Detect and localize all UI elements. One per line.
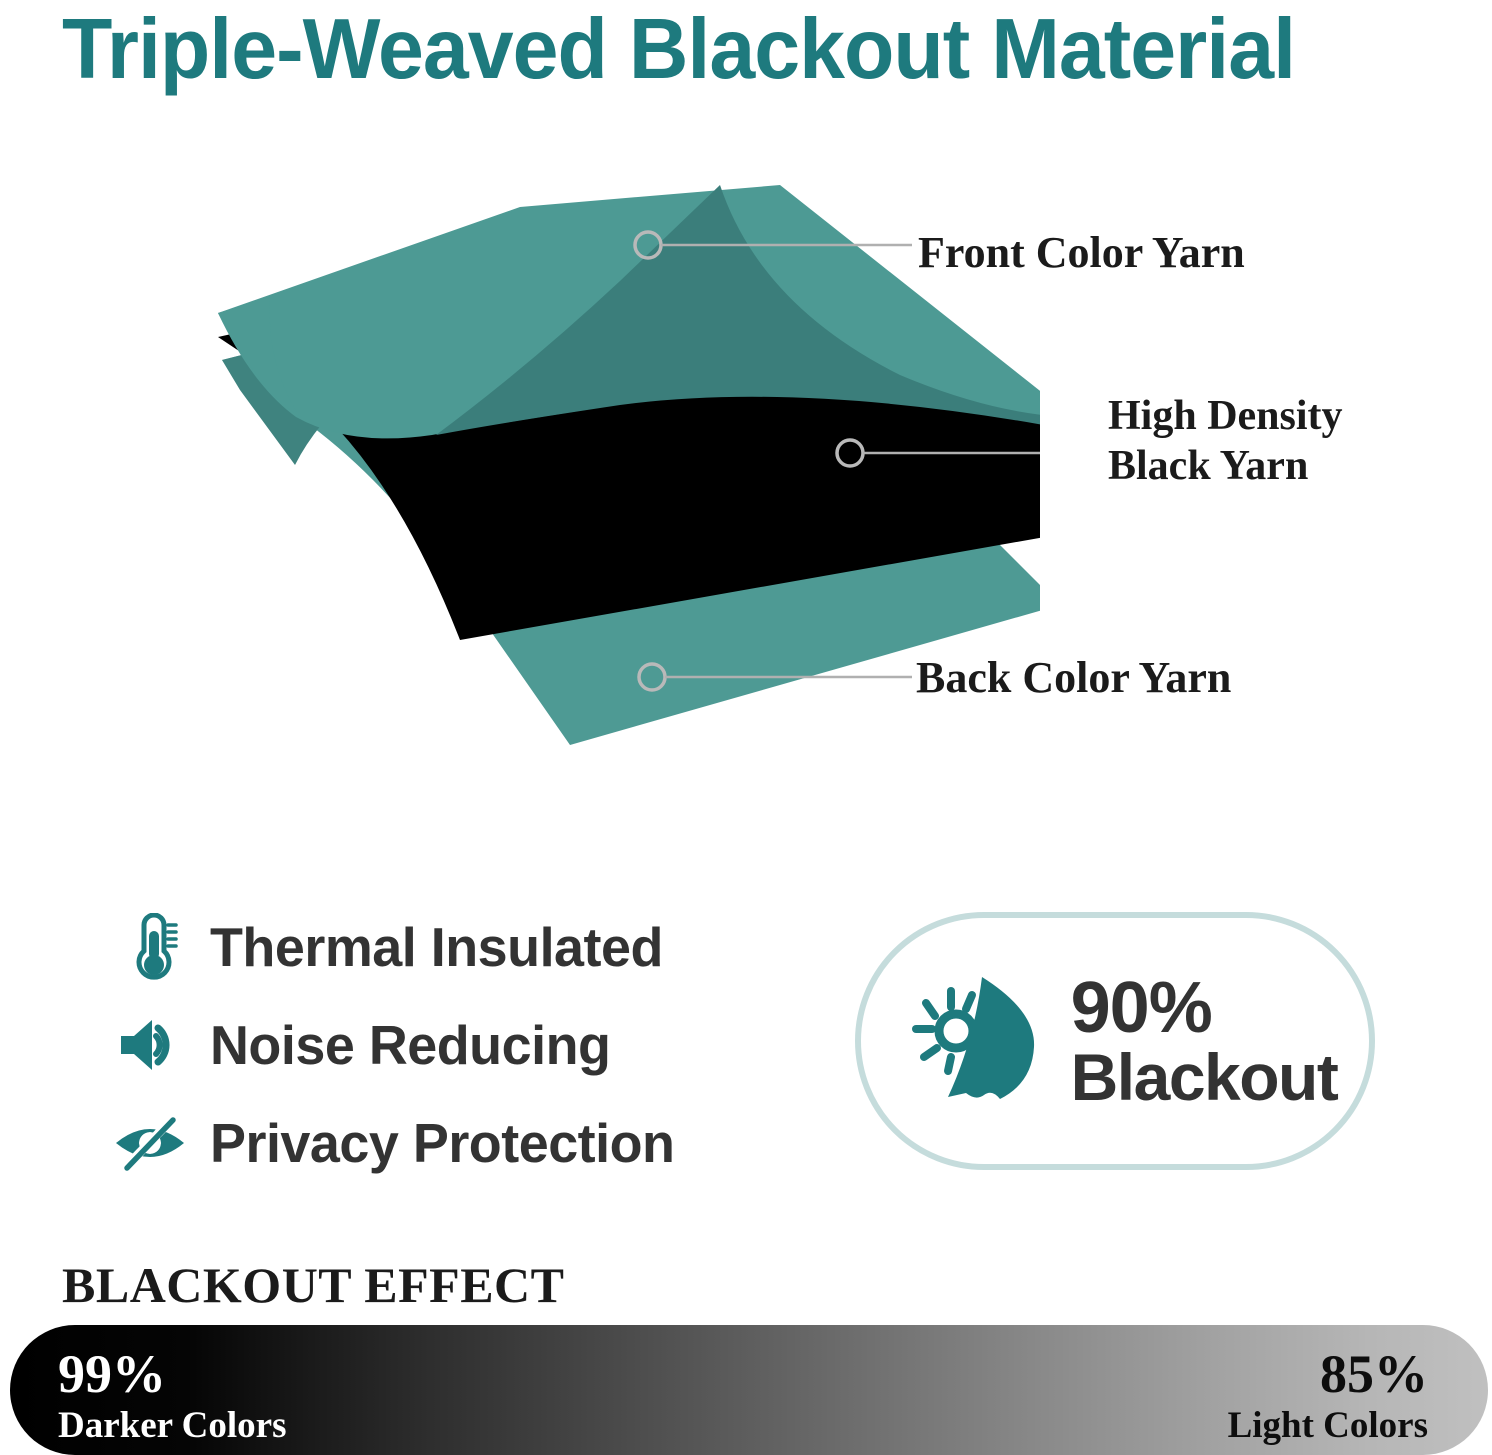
feature-item-privacy: Privacy Protection [112,1094,772,1192]
feature-item-noise: Noise Reducing [112,996,772,1094]
sun-behind-curtain-icon [893,966,1063,1116]
blackout-stat-light-percent: 85% [1228,1347,1428,1401]
callout-label-middle: High Density Black Yarn [1108,392,1408,491]
blackout-effect-gradient-bar: 99% Darker Colors 85% Light Colors [10,1325,1488,1455]
feature-item-thermal: Thermal Insulated [112,898,772,996]
blackout-percentage-badge: 90% Blackout [855,912,1375,1170]
page-title: Triple-Weaved Blackout Material [62,0,1295,102]
blackout-stat-darker-label: Darker Colors [58,1407,286,1444]
thermometer-icon [112,909,188,985]
blackout-stat-light: 85% Light Colors [1228,1347,1428,1444]
blackout-stat-light-label: Light Colors [1228,1407,1428,1444]
feature-label-noise: Noise Reducing [210,1015,610,1075]
feature-label-thermal: Thermal Insulated [210,917,663,977]
speaker-sound-icon [112,1007,188,1083]
callout-label-back: Back Color Yarn [916,652,1231,704]
blackout-stat-darker: 99% Darker Colors [58,1347,286,1444]
callout-label-middle-line1: High Density [1108,392,1408,442]
feature-label-privacy: Privacy Protection [210,1113,674,1173]
feature-list: Thermal Insulated Noise Reducing [112,898,772,1192]
blackout-badge-text: 90% Blackout [1071,972,1338,1110]
callout-label-middle-line2: Black Yarn [1108,442,1408,492]
eye-slash-icon [112,1105,188,1181]
blackout-word: Blackout [1071,1044,1338,1110]
layered-fabric-illustration [200,185,1040,815]
blackout-percent: 90% [1071,972,1338,1044]
callout-label-front: Front Color Yarn [918,227,1245,279]
blackout-effect-heading: BLACKOUT EFFECT [62,1256,565,1314]
blackout-stat-darker-percent: 99% [58,1347,286,1401]
